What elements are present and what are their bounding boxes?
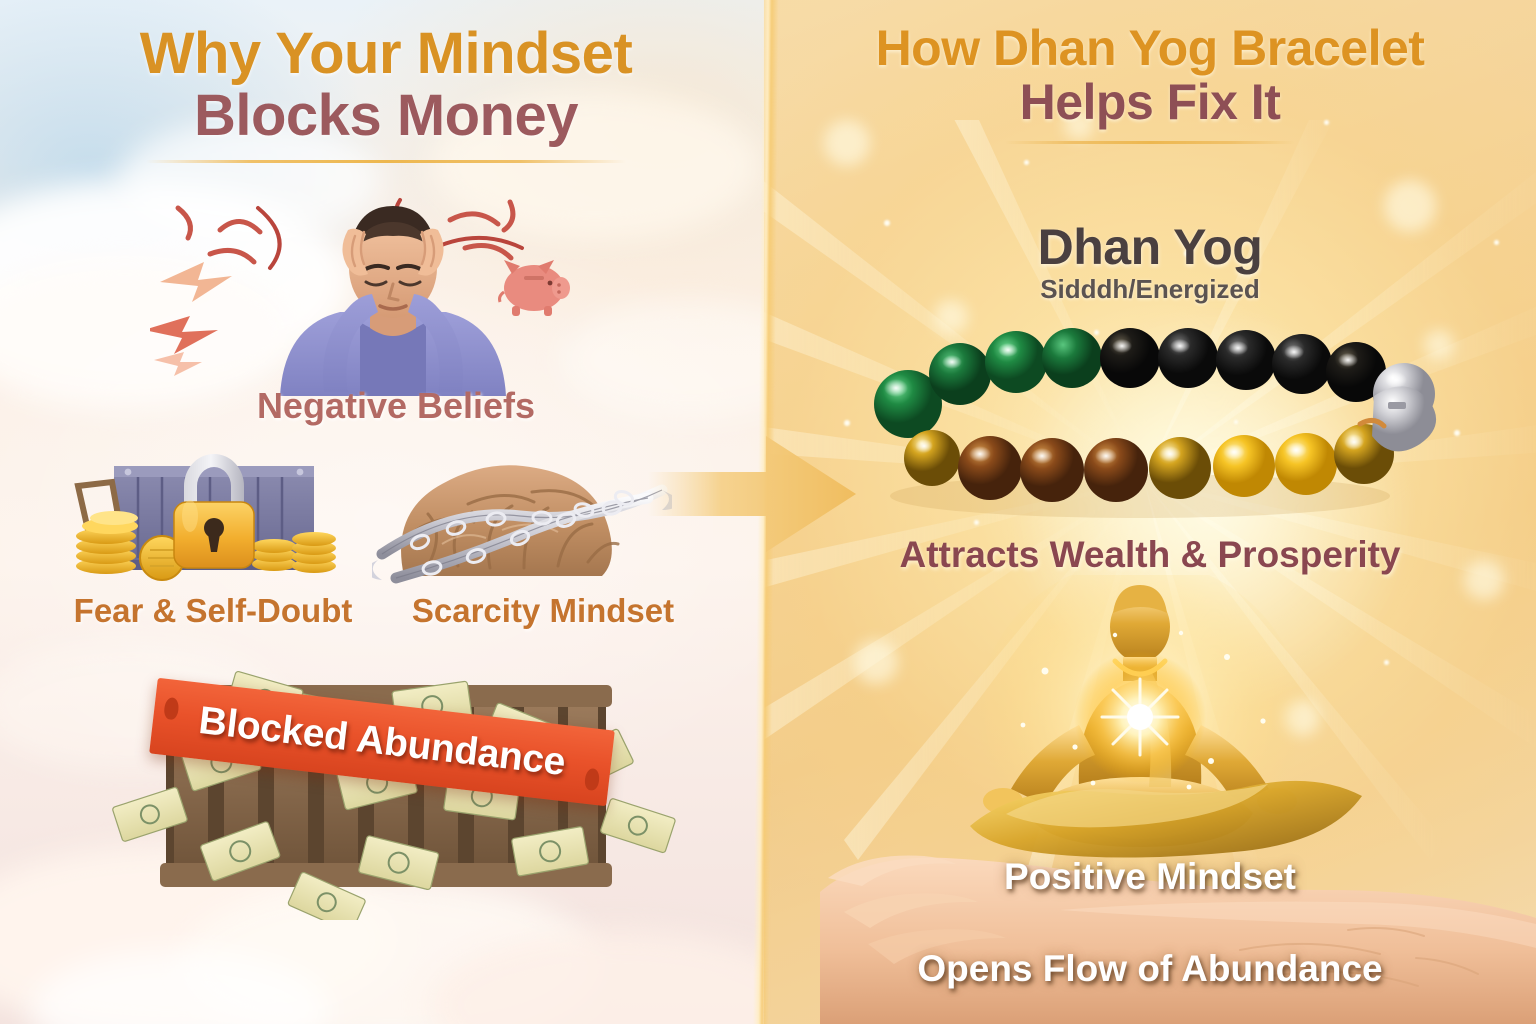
chained-brain-illustration xyxy=(372,434,672,594)
left-title-divider xyxy=(146,160,626,163)
right-title-divider xyxy=(1005,141,1295,144)
caption-attracts-wealth: Attracts Wealth & Prosperity xyxy=(764,534,1536,576)
brand-subtitle: Sidddh/Energized xyxy=(764,274,1536,305)
left-title-line2: Blocks Money xyxy=(0,86,772,146)
left-title-line1: Why Your Mindset xyxy=(0,24,772,84)
caption-opens-flow-abundance: Opens Flow of Abundance xyxy=(764,948,1536,990)
right-title-line2: Helps Fix It xyxy=(764,76,1536,128)
padlock-vault-coins-illustration xyxy=(62,424,362,594)
caption-negative-beliefs: Negative Beliefs xyxy=(186,385,606,427)
brand-block: Dhan Yog Sidddh/Energized xyxy=(764,218,1536,305)
right-title-block: How Dhan Yog Bracelet Helps Fix It xyxy=(764,22,1536,144)
caption-fear-self-doubt: Fear & Self-Doubt xyxy=(48,592,378,630)
left-title-block: Why Your Mindset Blocks Money xyxy=(0,24,772,163)
caption-positive-mindset: Positive Mindset xyxy=(764,856,1536,898)
brand-name: Dhan Yog xyxy=(764,218,1536,276)
right-title-line1: How Dhan Yog Bracelet xyxy=(764,22,1536,74)
caption-scarcity-mindset: Scarcity Mindset xyxy=(378,592,708,630)
infographic-canvas: Negative Beliefs xyxy=(0,0,1536,1024)
piggy-bank-icon xyxy=(492,248,570,322)
gemstone-bead-bracelet xyxy=(840,318,1440,523)
